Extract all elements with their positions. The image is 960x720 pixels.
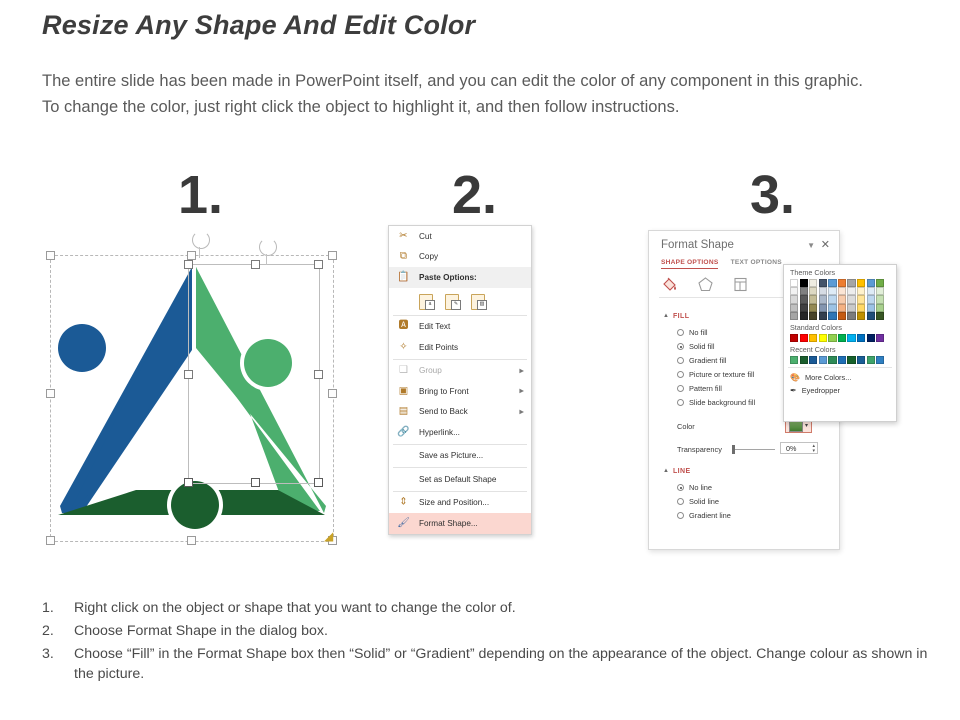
inner-handle-ne[interactable] [314, 260, 323, 269]
inner-handle-nw[interactable] [184, 260, 193, 269]
menu-separator [393, 467, 527, 468]
list-item-number: 3. [42, 644, 74, 684]
fill-option-gradient-fill[interactable]: Gradient fill [677, 356, 726, 365]
menu-item-send-to-back[interactable]: ▤ Send to Back ▶ [389, 402, 531, 423]
list-item: 2. Choose Format Shape in the dialog box… [42, 621, 932, 641]
color-swatch[interactable] [847, 334, 855, 342]
menu-item-edit-text[interactable]: 🅰 Edit Text [389, 317, 531, 338]
color-swatch[interactable] [838, 312, 846, 320]
spinner-icon[interactable]: ▴▾ [812, 444, 815, 454]
inner-handle-s[interactable] [251, 478, 260, 487]
send-to-back-icon: ▤ [397, 405, 410, 418]
radio-icon [677, 371, 684, 378]
fill-option-label: Gradient fill [689, 356, 726, 365]
color-swatch[interactable] [819, 279, 827, 287]
size-properties-icon[interactable] [731, 275, 750, 294]
line-section-heading: LINE [673, 468, 691, 475]
fill-option-no-fill[interactable]: No fill [677, 328, 707, 337]
color-swatch[interactable] [800, 279, 808, 287]
color-swatch[interactable] [847, 279, 855, 287]
color-swatch[interactable] [867, 304, 875, 312]
color-swatch[interactable] [790, 334, 798, 342]
slide-canvas: Resize Any Shape And Edit Color The enti… [0, 0, 960, 720]
chevron-right-icon: ▶ [519, 388, 524, 395]
fill-section-collapse-icon[interactable]: ▲ [663, 313, 669, 319]
transparency-value-field[interactable]: 0% ▴▾ [780, 442, 818, 454]
color-swatch[interactable] [857, 356, 865, 364]
scissors-icon: ✂ [397, 230, 410, 243]
list-item-number: 2. [42, 621, 74, 641]
chevron-right-icon: ▶ [519, 367, 524, 374]
color-swatch[interactable] [800, 295, 808, 303]
color-swatch[interactable] [790, 279, 798, 287]
menu-item-label: Size and Position... [419, 498, 489, 507]
color-swatch[interactable] [876, 334, 884, 342]
inner-handle-se[interactable] [314, 478, 323, 487]
color-swatch[interactable] [857, 287, 865, 295]
color-swatch[interactable] [847, 312, 855, 320]
rotate-handle-right-stem [266, 254, 267, 265]
transparency-slider-track[interactable] [733, 449, 775, 450]
selection-handle-sw[interactable] [46, 536, 55, 545]
color-swatch[interactable] [847, 356, 855, 364]
hyperlink-icon: 🔗 [397, 426, 410, 439]
fill-option-pattern-fill[interactable]: Pattern fill [677, 384, 722, 393]
color-swatch[interactable] [876, 312, 884, 320]
fill-option-slide-background-fill[interactable]: Slide background fill [677, 398, 755, 407]
size-position-icon: ⇕ [397, 496, 410, 509]
list-item-number: 1. [42, 598, 74, 618]
color-swatch[interactable] [809, 356, 817, 364]
color-swatch[interactable] [809, 287, 817, 295]
color-swatch[interactable] [819, 334, 827, 342]
line-option-label: Solid line [689, 497, 719, 506]
color-swatch[interactable] [790, 295, 798, 303]
page-title: Resize Any Shape And Edit Color [42, 10, 475, 41]
selection-handle-n[interactable] [187, 251, 196, 260]
color-swatch[interactable] [857, 304, 865, 312]
line-option-no-line[interactable]: No line [677, 483, 712, 492]
copy-icon: ⧉ [397, 250, 410, 263]
color-swatch[interactable] [838, 287, 846, 295]
fill-option-label: Solid fill [689, 342, 714, 351]
color-swatch[interactable] [809, 279, 817, 287]
color-swatch[interactable] [800, 356, 808, 364]
menu-separator [393, 315, 527, 316]
group-icon: ❑ [397, 364, 410, 377]
color-swatch[interactable] [828, 304, 836, 312]
fill-option-label: Slide background fill [689, 398, 755, 407]
paste-keep-source-formatting-icon[interactable]: a [419, 293, 434, 309]
theme-color-column [809, 279, 817, 320]
color-swatch[interactable] [867, 287, 875, 295]
radio-icon-selected [677, 484, 684, 491]
color-swatch[interactable] [819, 312, 827, 320]
format-shape-title: Format Shape [661, 239, 734, 251]
selection-handle-nw[interactable] [46, 251, 55, 260]
tab-shape-options[interactable]: SHAPE OPTIONS [661, 259, 718, 269]
color-swatch[interactable] [790, 287, 798, 295]
theme-color-column [876, 279, 884, 320]
theme-colors-label: Theme Colors [784, 265, 896, 279]
step-number-2: 2. [452, 168, 497, 222]
menu-separator [393, 359, 527, 360]
context-menu[interactable]: ✂ Cut ⧉ Copy 📋 Paste Options: a ✎ ▨ 🅰 Ed [388, 225, 532, 535]
color-swatch[interactable] [857, 279, 865, 287]
instructions-list: 1. Right click on the object or shape th… [42, 598, 932, 687]
color-swatch[interactable] [857, 312, 865, 320]
color-swatch[interactable] [790, 356, 798, 364]
color-swatch[interactable] [876, 287, 884, 295]
dropdown-separator [788, 367, 892, 368]
color-swatch[interactable] [867, 279, 875, 287]
radio-icon [677, 498, 684, 505]
radio-icon [677, 399, 684, 406]
color-swatch[interactable] [867, 295, 875, 303]
menu-separator [393, 444, 527, 445]
theme-color-column [857, 279, 865, 320]
color-swatch[interactable] [876, 295, 884, 303]
step-number-1: 1. [178, 168, 223, 222]
menu-item-label: Bring to Front [419, 387, 469, 396]
color-swatch[interactable] [800, 334, 808, 342]
color-picker-dropdown[interactable]: Theme Colors Standard Colors Recent Colo… [783, 264, 897, 422]
eyedropper-icon: ✒ [790, 386, 797, 395]
shape-graphic-panel: ◢ [40, 230, 350, 550]
color-swatch[interactable] [876, 279, 884, 287]
inner-handle-n[interactable] [251, 260, 260, 269]
color-swatch[interactable] [838, 279, 846, 287]
color-swatch[interactable] [857, 295, 865, 303]
fill-option-solid-fill[interactable]: Solid fill [677, 342, 714, 351]
menu-item-set-as-default-shape[interactable]: Set as Default Shape [389, 469, 531, 490]
paste-use-destination-theme-icon[interactable]: ✎ [445, 293, 460, 309]
inner-handle-w[interactable] [184, 370, 193, 379]
menu-item-label: Save as Picture... [419, 451, 483, 460]
theme-color-column [819, 279, 827, 320]
color-swatch[interactable] [828, 287, 836, 295]
color-swatch[interactable] [828, 312, 836, 320]
theme-color-column [847, 279, 855, 320]
transparency-label: Transparency [677, 445, 722, 454]
inner-handle-e[interactable] [314, 370, 323, 379]
theme-colors-grid[interactable] [784, 279, 896, 320]
tab-text-options[interactable]: TEXT OPTIONS [731, 259, 782, 266]
color-swatch[interactable] [828, 356, 836, 364]
color-swatch[interactable] [809, 295, 817, 303]
theme-color-column [867, 279, 875, 320]
paste-picture-icon[interactable]: ▨ [471, 293, 486, 309]
theme-color-column [838, 279, 846, 320]
radio-icon-selected [677, 343, 684, 350]
menu-item-bring-to-front[interactable]: ▣ Bring to Front ▶ [389, 381, 531, 402]
menu-item-label: Edit Points [419, 343, 458, 352]
color-swatch[interactable] [838, 334, 846, 342]
rotate-handle-left[interactable] [192, 231, 210, 249]
paste-options-row: a ✎ ▨ [389, 288, 531, 314]
pentagon-effects-icon[interactable] [696, 275, 715, 294]
more-colors-item[interactable]: 🎨 More Colors... [784, 371, 896, 384]
menu-item-save-as-picture[interactable]: Save as Picture... [389, 446, 531, 467]
radio-icon [677, 512, 684, 519]
recent-colors-row[interactable] [784, 356, 896, 364]
menu-item-cut[interactable]: ✂ Cut [389, 226, 531, 247]
list-item-text: Right click on the object or shape that … [74, 598, 932, 618]
paste-icon: 📋 [397, 271, 410, 284]
color-label: Color [677, 422, 695, 431]
list-item-text: Choose “Fill” in the Format Shape box th… [74, 644, 932, 684]
menu-item-label: Edit Text [419, 322, 450, 331]
menu-item-label: Paste Options: [419, 273, 477, 282]
menu-item-format-shape[interactable]: 🖌 Format Shape... [389, 513, 531, 534]
format-shape-tabs: SHAPE OPTIONS TEXT OPTIONS [661, 259, 792, 269]
fill-option-picture-or-texture-fill[interactable]: Picture or texture fill [677, 370, 754, 379]
color-swatch[interactable] [867, 334, 875, 342]
chevron-right-icon: ▶ [519, 408, 524, 415]
inner-selection-box [188, 264, 320, 484]
page-subtitle: The entire slide has been made in PowerP… [42, 68, 882, 120]
color-swatch[interactable] [819, 304, 827, 312]
menu-item-label: Hyperlink... [419, 428, 460, 437]
color-swatch[interactable] [828, 334, 836, 342]
color-swatch[interactable] [838, 295, 846, 303]
color-swatch[interactable] [809, 304, 817, 312]
line-option-label: No line [689, 483, 712, 492]
color-swatch[interactable] [828, 295, 836, 303]
menu-item-label: Format Shape... [419, 519, 478, 528]
fill-option-label: Pattern fill [689, 384, 722, 393]
color-swatch[interactable] [847, 295, 855, 303]
list-item: 1. Right click on the object or shape th… [42, 598, 932, 618]
color-swatch[interactable] [876, 304, 884, 312]
color-swatch[interactable] [790, 304, 798, 312]
transparency-value: 0% [786, 444, 796, 453]
color-swatch[interactable] [800, 312, 808, 320]
line-option-gradient-line[interactable]: Gradient line [677, 511, 731, 520]
theme-color-column [828, 279, 836, 320]
menu-item-label: Set as Default Shape [419, 475, 496, 484]
selection-handle-e[interactable] [328, 389, 337, 398]
list-item: 3. Choose “Fill” in the Format Shape box… [42, 644, 932, 684]
standard-colors-label: Standard Colors [784, 320, 896, 334]
selection-handle-ne[interactable] [328, 251, 337, 260]
line-option-label: Gradient line [689, 511, 731, 520]
color-swatch[interactable] [857, 334, 865, 342]
recent-colors-label: Recent Colors [784, 342, 896, 356]
menu-item-label: Cut [419, 232, 432, 241]
color-swatch[interactable] [867, 356, 875, 364]
rotate-handle-left-stem [199, 247, 200, 258]
fill-option-label: Picture or texture fill [689, 370, 754, 379]
edit-text-icon: 🅰 [397, 320, 410, 333]
color-swatch[interactable] [790, 312, 798, 320]
format-shape-icon-tabs [661, 275, 750, 294]
line-option-solid-line[interactable]: Solid line [677, 497, 719, 506]
selection-handle-w[interactable] [46, 389, 55, 398]
selection-handle-s[interactable] [187, 536, 196, 545]
chevron-down-icon[interactable]: ▼ [807, 241, 815, 250]
color-swatch[interactable] [847, 287, 855, 295]
fill-bucket-icon[interactable] [661, 275, 680, 294]
menu-item-group[interactable]: ❑ Group ▶ [389, 361, 531, 382]
color-swatch[interactable] [809, 334, 817, 342]
more-colors-label: More Colors... [805, 373, 851, 382]
color-swatch[interactable] [819, 356, 827, 364]
menu-item-label: Group [419, 366, 442, 375]
close-icon[interactable]: ✕ [821, 238, 830, 251]
rotate-handle-right[interactable] [259, 238, 277, 256]
line-section-collapse-icon[interactable]: ▲ [663, 468, 669, 474]
radio-icon [677, 357, 684, 364]
chevron-down-icon[interactable]: ▾ [805, 422, 808, 429]
resize-corner-icon[interactable]: ◢ [324, 530, 338, 542]
format-shape-icon: 🖌 [397, 517, 410, 530]
eyedropper-item[interactable]: ✒ Eyedropper [784, 384, 896, 397]
color-swatch[interactable] [819, 287, 827, 295]
color-swatch[interactable] [838, 304, 846, 312]
theme-color-column [800, 279, 808, 320]
standard-colors-row[interactable] [784, 334, 896, 342]
menu-item-copy[interactable]: ⧉ Copy [389, 247, 531, 268]
menu-separator [393, 491, 527, 492]
menu-item-label: Copy [419, 252, 438, 261]
menu-item-hyperlink[interactable]: 🔗 Hyperlink... [389, 422, 531, 443]
radio-icon [677, 385, 684, 392]
color-swatch[interactable] [809, 312, 817, 320]
transparency-slider-thumb[interactable] [732, 445, 735, 454]
menu-item-size-and-position[interactable]: ⇕ Size and Position... [389, 493, 531, 514]
color-swatch[interactable] [828, 279, 836, 287]
color-swatch[interactable] [867, 312, 875, 320]
menu-item-edit-points[interactable]: ✧ Edit Points [389, 337, 531, 358]
color-swatch[interactable] [800, 287, 808, 295]
theme-color-column [790, 279, 798, 320]
color-swatch[interactable] [838, 356, 846, 364]
color-swatch[interactable] [876, 356, 884, 364]
color-swatch[interactable] [847, 304, 855, 312]
bring-to-front-icon: ▣ [397, 385, 410, 398]
palette-icon: 🎨 [790, 373, 800, 382]
fill-option-label: No fill [689, 328, 707, 337]
inner-handle-sw[interactable] [184, 478, 193, 487]
radio-icon [677, 329, 684, 336]
eyedropper-label: Eyedropper [802, 386, 840, 395]
edit-points-icon: ✧ [397, 341, 410, 354]
color-swatch[interactable] [819, 295, 827, 303]
menu-item-paste-options[interactable]: 📋 Paste Options: [389, 267, 531, 288]
fill-section-heading: FILL [673, 313, 689, 320]
menu-item-label: Send to Back [419, 407, 468, 416]
color-swatch[interactable] [800, 304, 808, 312]
step-number-3: 3. [750, 168, 795, 222]
list-item-text: Choose Format Shape in the dialog box. [74, 621, 932, 641]
